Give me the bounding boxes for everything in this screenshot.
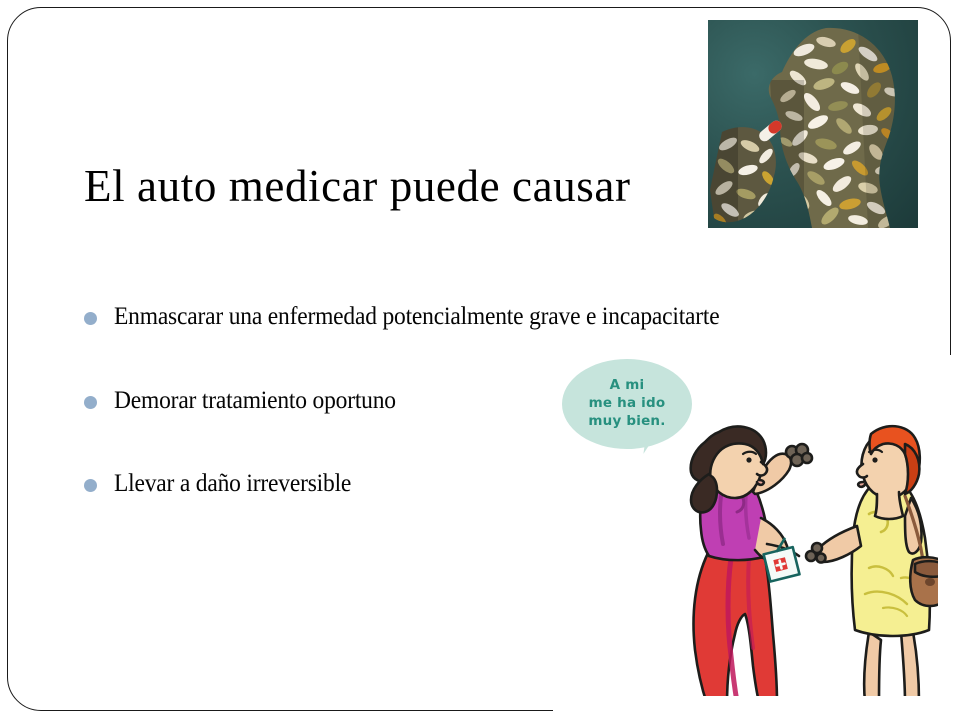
bullet-text: Llevar a daño irreversible (114, 470, 351, 498)
list-item: Demorar tratamiento oportuno (84, 387, 884, 415)
two-women-cartoon (665, 418, 960, 720)
bullet-text: Enmascarar una enfermedad potencialmente… (114, 303, 720, 331)
bullet-dot-icon (84, 312, 97, 325)
bullet-dot-icon (84, 479, 97, 492)
bullet-text: Demorar tratamiento oportuno (114, 387, 396, 415)
pill-head-illustration (708, 20, 918, 228)
speech-line-3: muy bien. (588, 413, 665, 431)
bullet-dot-icon (84, 396, 97, 409)
speech-line-2: me ha ido (589, 395, 666, 413)
frame-mask-bottom (553, 696, 960, 720)
list-item: Enmascarar una enfermedad potencialmente… (84, 303, 884, 331)
speech-line-1: A mi (610, 377, 645, 395)
cartoon-illustration (665, 418, 960, 720)
frame-mask-right (938, 355, 960, 720)
page-title: El auto medicar puede causar (84, 160, 631, 212)
slide-canvas: El auto medicar puede causar Enmascarar … (0, 0, 960, 720)
pill-sculpture-photo (708, 20, 918, 228)
